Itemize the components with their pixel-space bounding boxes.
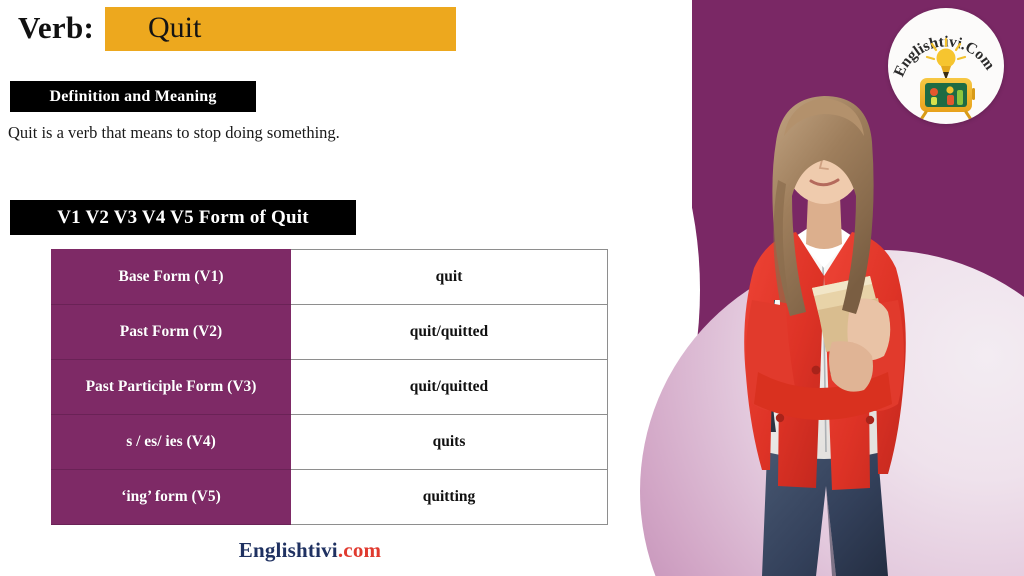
table-row: Past Form (V2) quit/quitted bbox=[52, 305, 608, 360]
verb-forms-table: Base Form (V1) quit Past Form (V2) quit/… bbox=[51, 249, 608, 525]
verb-forms-table-body: Base Form (V1) quit Past Form (V2) quit/… bbox=[52, 250, 608, 525]
forms-section-tag: V1 V2 V3 V4 V5 Form of Quit bbox=[10, 200, 356, 235]
verb-value: Quit bbox=[148, 11, 201, 45]
decorative-right-panel: Englishtivi.Com bbox=[620, 0, 1024, 576]
table-row: s / es/ ies (V4) quits bbox=[52, 415, 608, 470]
form-label-v5: ‘ing’ form (V5) bbox=[52, 470, 291, 525]
form-value-v2: quit/quitted bbox=[291, 305, 608, 360]
form-value-v1: quit bbox=[291, 250, 608, 305]
definition-text: Quit is a verb that means to stop doing … bbox=[8, 123, 340, 143]
footer-brand-name: Englishtivi bbox=[239, 538, 338, 562]
lightbulb-icon bbox=[937, 49, 956, 68]
form-label-v3: Past Participle Form (V3) bbox=[52, 360, 291, 415]
verb-label: Verb: bbox=[18, 10, 94, 46]
form-value-v4: quits bbox=[291, 415, 608, 470]
footer-brand[interactable]: Englishtivi.com bbox=[0, 538, 620, 563]
table-row: ‘ing’ form (V5) quitting bbox=[52, 470, 608, 525]
definition-section-tag: Definition and Meaning bbox=[10, 81, 256, 112]
englishtivi-logo-badge[interactable]: Englishtivi.Com bbox=[888, 8, 1004, 124]
form-value-v5: quitting bbox=[291, 470, 608, 525]
table-row: Base Form (V1) quit bbox=[52, 250, 608, 305]
logo-artwork: Englishtivi.Com bbox=[888, 8, 1004, 124]
footer-brand-tld: .com bbox=[338, 538, 381, 562]
table-row: Past Participle Form (V3) quit/quitted bbox=[52, 360, 608, 415]
form-label-v1: Base Form (V1) bbox=[52, 250, 291, 305]
form-label-v2: Past Form (V2) bbox=[52, 305, 291, 360]
slide-canvas: Englishtivi.Com bbox=[0, 0, 1024, 576]
form-label-v4: s / es/ ies (V4) bbox=[52, 415, 291, 470]
form-value-v3: quit/quitted bbox=[291, 360, 608, 415]
verb-header-row: Verb: Quit bbox=[0, 6, 470, 52]
